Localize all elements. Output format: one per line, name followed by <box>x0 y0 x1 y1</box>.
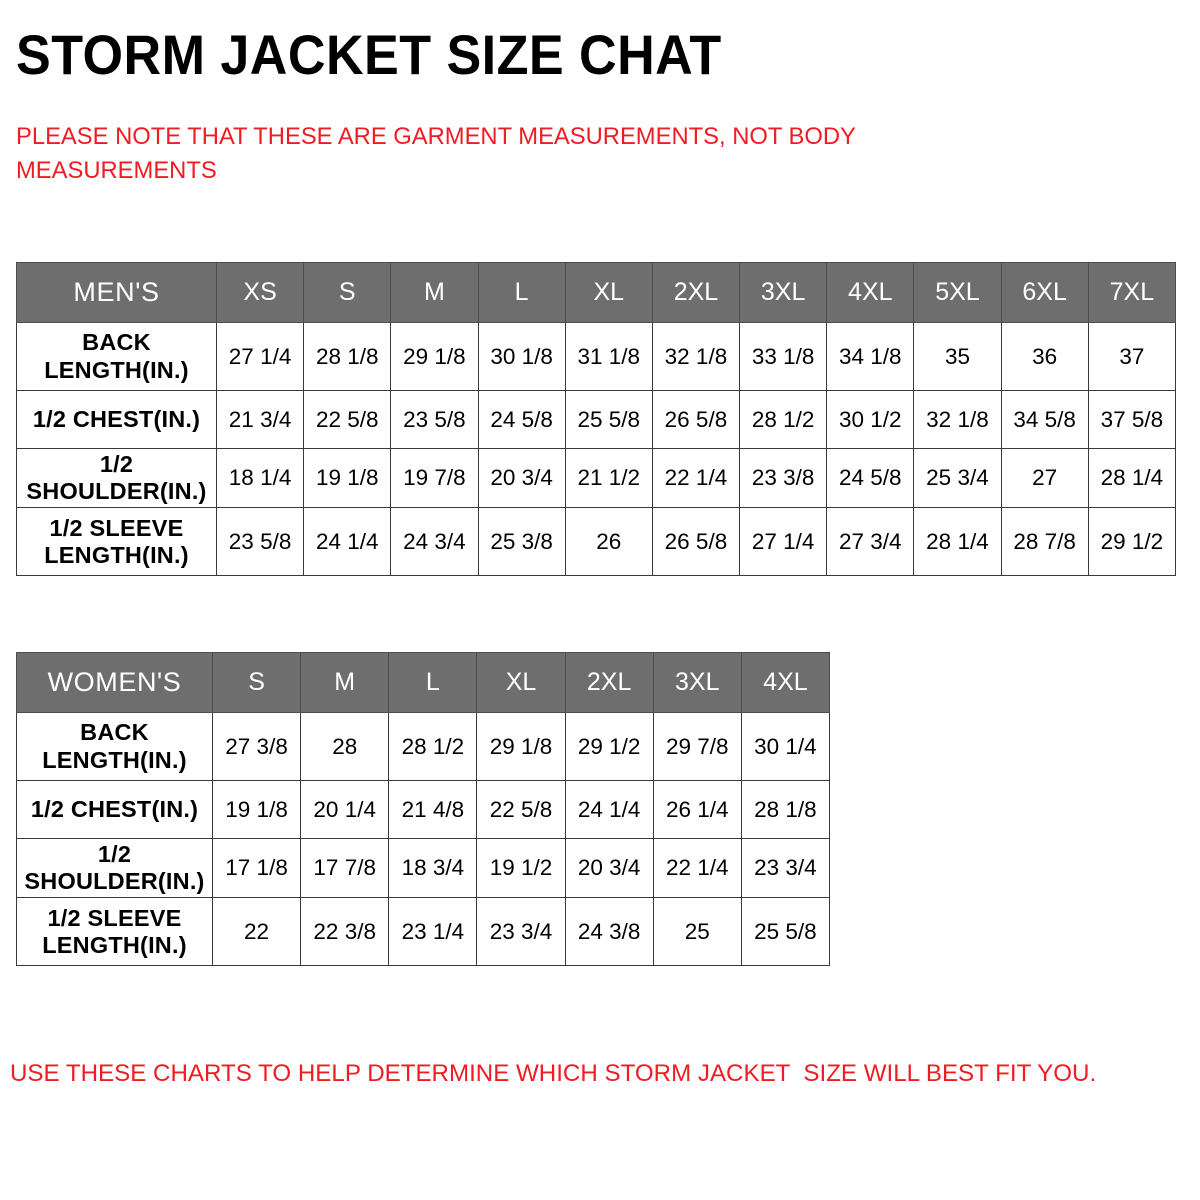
measurement-cell: 24 3/8 <box>565 898 653 966</box>
mens-size-table: MEN'S XSSMLXL2XL3XL4XL5XL6XL7XL BACK LEN… <box>16 262 1176 576</box>
mens-gender-header: MEN'S <box>17 263 217 323</box>
measurement-cell: 22 3/8 <box>301 898 389 966</box>
mens-header-row: MEN'S XSSMLXL2XL3XL4XL5XL6XL7XL <box>17 263 1176 323</box>
table-row: 1/2 SHOULDER(IN.)18 1/419 1/819 7/820 3/… <box>17 449 1176 508</box>
measurement-cell: 26 1/4 <box>653 781 741 839</box>
measurement-cell: 25 3/8 <box>478 508 565 576</box>
measurement-cell: 27 1/4 <box>217 323 304 391</box>
table-row: BACK LENGTH(IN.)27 3/82828 1/229 1/829 1… <box>17 713 830 781</box>
womens-measure-label-3: 1/2 SLEEVE LENGTH(IN.) <box>17 898 213 966</box>
measurement-cell: 35 <box>914 323 1001 391</box>
womens-size-header-l: L <box>389 653 477 713</box>
womens-size-header-xl: XL <box>477 653 565 713</box>
measurement-cell: 23 5/8 <box>391 391 478 449</box>
table-row: 1/2 CHEST(IN.)19 1/820 1/421 4/822 5/824… <box>17 781 830 839</box>
table-row: 1/2 CHEST(IN.)21 3/422 5/823 5/824 5/825… <box>17 391 1176 449</box>
measurement-cell: 19 7/8 <box>391 449 478 508</box>
measurement-cell: 18 3/4 <box>389 839 477 898</box>
womens-size-header-m: M <box>301 653 389 713</box>
measurement-cell: 23 3/4 <box>741 839 829 898</box>
mens-size-header-2xl: 2XL <box>652 263 739 323</box>
measurement-cell: 20 3/4 <box>478 449 565 508</box>
womens-table-body: BACK LENGTH(IN.)27 3/82828 1/229 1/829 1… <box>17 713 830 966</box>
measurement-cell: 23 3/8 <box>740 449 827 508</box>
measurement-cell: 29 1/8 <box>391 323 478 391</box>
measurement-cell: 25 5/8 <box>741 898 829 966</box>
measurement-cell: 20 1/4 <box>301 781 389 839</box>
womens-size-header-4xl: 4XL <box>741 653 829 713</box>
measurement-cell: 19 1/2 <box>477 839 565 898</box>
measurement-cell: 17 7/8 <box>301 839 389 898</box>
measurement-cell: 24 5/8 <box>827 449 914 508</box>
measurement-cell: 18 1/4 <box>217 449 304 508</box>
mens-size-header-7xl: 7XL <box>1088 263 1175 323</box>
measurement-cell: 17 1/8 <box>213 839 301 898</box>
measurement-cell: 30 1/8 <box>478 323 565 391</box>
mens-measure-label-0: BACK LENGTH(IN.) <box>17 323 217 391</box>
measurement-cell: 23 3/4 <box>477 898 565 966</box>
measurement-cell: 37 5/8 <box>1088 391 1175 449</box>
measurement-cell: 26 <box>565 508 652 576</box>
measurement-cell: 28 1/2 <box>389 713 477 781</box>
measurement-cell: 33 1/8 <box>740 323 827 391</box>
measurement-cell: 26 5/8 <box>652 391 739 449</box>
measurement-cell: 32 1/8 <box>914 391 1001 449</box>
mens-measure-label-1: 1/2 CHEST(IN.) <box>17 391 217 449</box>
mens-size-header-4xl: 4XL <box>827 263 914 323</box>
size-chart-page: STORM JACKET SIZE CHAT PLEASE NOTE THAT … <box>0 0 1200 1200</box>
measurement-cell: 28 1/8 <box>741 781 829 839</box>
womens-table-head: WOMEN'S SMLXL2XL3XL4XL <box>17 653 830 713</box>
mens-size-header-5xl: 5XL <box>914 263 1001 323</box>
garment-measurement-note: PLEASE NOTE THAT THESE ARE GARMENT MEASU… <box>16 120 938 188</box>
measurement-cell: 26 5/8 <box>652 508 739 576</box>
mens-size-header-xs: XS <box>217 263 304 323</box>
measurement-cell: 34 5/8 <box>1001 391 1088 449</box>
measurement-cell: 36 <box>1001 323 1088 391</box>
mens-size-header-l: L <box>478 263 565 323</box>
measurement-cell: 28 1/4 <box>1088 449 1175 508</box>
measurement-cell: 25 3/4 <box>914 449 1001 508</box>
measurement-cell: 19 1/8 <box>213 781 301 839</box>
measurement-cell: 27 1/4 <box>740 508 827 576</box>
measurement-cell: 24 1/4 <box>565 781 653 839</box>
womens-measure-label-1: 1/2 CHEST(IN.) <box>17 781 213 839</box>
measurement-cell: 22 5/8 <box>304 391 391 449</box>
womens-header-row: WOMEN'S SMLXL2XL3XL4XL <box>17 653 830 713</box>
measurement-cell: 21 3/4 <box>217 391 304 449</box>
measurement-cell: 29 1/2 <box>565 713 653 781</box>
mens-table-body: BACK LENGTH(IN.)27 1/428 1/829 1/830 1/8… <box>17 323 1176 576</box>
measurement-cell: 30 1/2 <box>827 391 914 449</box>
measurement-cell: 31 1/8 <box>565 323 652 391</box>
table-row: BACK LENGTH(IN.)27 1/428 1/829 1/830 1/8… <box>17 323 1176 391</box>
womens-size-header-2xl: 2XL <box>565 653 653 713</box>
measurement-cell: 30 1/4 <box>741 713 829 781</box>
mens-size-header-s: S <box>304 263 391 323</box>
measurement-cell: 20 3/4 <box>565 839 653 898</box>
measurement-cell: 34 1/8 <box>827 323 914 391</box>
measurement-cell: 29 1/8 <box>477 713 565 781</box>
table-row: 1/2 SLEEVE LENGTH(IN.)23 5/824 1/424 3/4… <box>17 508 1176 576</box>
womens-size-table: WOMEN'S SMLXL2XL3XL4XL BACK LENGTH(IN.)2… <box>16 652 830 966</box>
table-row: 1/2 SHOULDER(IN.)17 1/817 7/818 3/419 1/… <box>17 839 830 898</box>
measurement-cell: 19 1/8 <box>304 449 391 508</box>
measurement-cell: 21 4/8 <box>389 781 477 839</box>
measurement-cell: 28 7/8 <box>1001 508 1088 576</box>
womens-measure-label-0: BACK LENGTH(IN.) <box>17 713 213 781</box>
measurement-cell: 27 <box>1001 449 1088 508</box>
measurement-cell: 27 3/8 <box>213 713 301 781</box>
womens-measure-label-2: 1/2 SHOULDER(IN.) <box>17 839 213 898</box>
measurement-cell: 22 1/4 <box>653 839 741 898</box>
page-title: STORM JACKET SIZE CHAT <box>16 26 722 85</box>
measurement-cell: 22 5/8 <box>477 781 565 839</box>
measurement-cell: 28 1/8 <box>304 323 391 391</box>
measurement-cell: 22 1/4 <box>652 449 739 508</box>
measurement-cell: 29 1/2 <box>1088 508 1175 576</box>
table-row: 1/2 SLEEVE LENGTH(IN.)2222 3/823 1/423 3… <box>17 898 830 966</box>
measurement-cell: 24 1/4 <box>304 508 391 576</box>
measurement-cell: 25 <box>653 898 741 966</box>
mens-table-head: MEN'S XSSMLXL2XL3XL4XL5XL6XL7XL <box>17 263 1176 323</box>
measurement-cell: 32 1/8 <box>652 323 739 391</box>
measurement-cell: 24 3/4 <box>391 508 478 576</box>
measurement-cell: 23 1/4 <box>389 898 477 966</box>
measurement-cell: 28 <box>301 713 389 781</box>
mens-size-header-xl: XL <box>565 263 652 323</box>
mens-measure-label-3: 1/2 SLEEVE LENGTH(IN.) <box>17 508 217 576</box>
womens-gender-header: WOMEN'S <box>17 653 213 713</box>
womens-size-header-3xl: 3XL <box>653 653 741 713</box>
mens-size-header-m: M <box>391 263 478 323</box>
measurement-cell: 24 5/8 <box>478 391 565 449</box>
measurement-cell: 28 1/2 <box>740 391 827 449</box>
measurement-cell: 29 7/8 <box>653 713 741 781</box>
measurement-cell: 23 5/8 <box>217 508 304 576</box>
measurement-cell: 21 1/2 <box>565 449 652 508</box>
measurement-cell: 27 3/4 <box>827 508 914 576</box>
measurement-cell: 37 <box>1088 323 1175 391</box>
measurement-cell: 22 <box>213 898 301 966</box>
measurement-cell: 28 1/4 <box>914 508 1001 576</box>
measurement-cell: 25 5/8 <box>565 391 652 449</box>
womens-size-header-s: S <box>213 653 301 713</box>
mens-size-header-6xl: 6XL <box>1001 263 1088 323</box>
mens-size-header-3xl: 3XL <box>740 263 827 323</box>
mens-measure-label-2: 1/2 SHOULDER(IN.) <box>17 449 217 508</box>
help-determine-size-note: USE THESE CHARTS TO HELP DETERMINE WHICH… <box>10 1058 1172 1090</box>
